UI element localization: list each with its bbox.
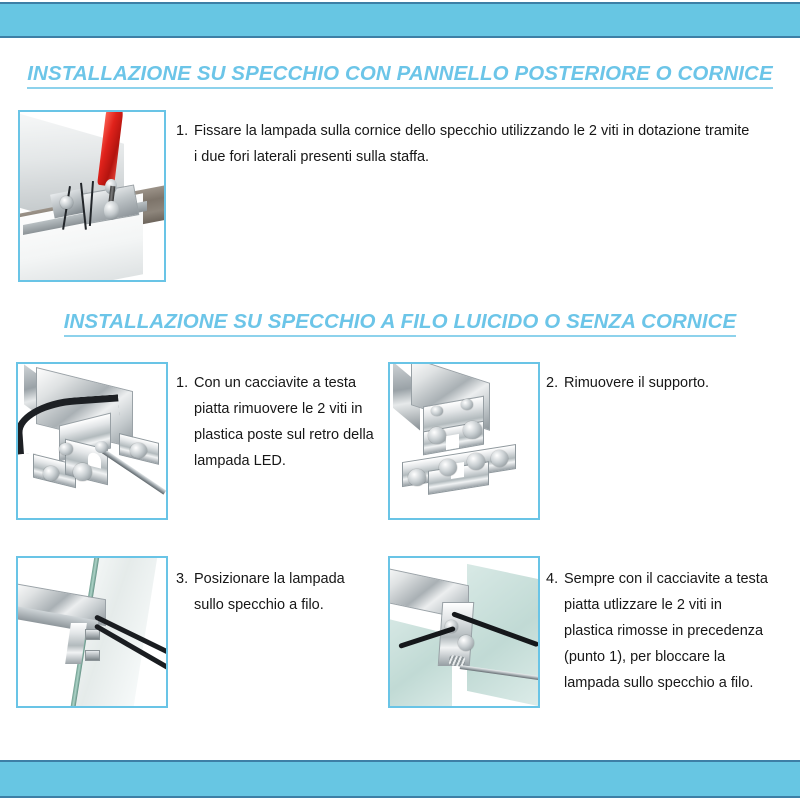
step-number: 4.: [546, 566, 558, 592]
instruction-sheet: INSTALLAZIONE SU SPECCHIO CON PANNELLO P…: [0, 0, 800, 800]
mirror-glass-right: [467, 564, 540, 708]
section-1-heading: INSTALLAZIONE SU SPECCHIO CON PANNELLO P…: [0, 62, 800, 86]
lug-notch: [446, 434, 459, 450]
section-1-heading-text: INSTALLAZIONE SU SPECCHIO CON PANNELLO P…: [27, 62, 772, 89]
step-text: Posizionare la lampada sullo specchio a …: [194, 566, 376, 618]
scene-screwdriver-on-frame: [20, 112, 164, 280]
photo-section2-step4: [388, 556, 540, 708]
step-number: 2.: [546, 370, 558, 396]
photo-section2-step3: [16, 556, 168, 708]
section-2-heading-text: INSTALLAZIONE SU SPECCHIO A FILO LUICIDO…: [64, 310, 737, 337]
step-text: Rimuovere il supporto.: [564, 370, 761, 396]
step-text: Sempre con il cacciavite a testa piatta …: [564, 566, 774, 696]
mounting-clip-upper: [85, 629, 100, 640]
plastic-screw: [73, 463, 92, 481]
photo-section1-step1: [18, 110, 166, 282]
scene-locking-lamp: [390, 558, 538, 706]
instruction-s2-step1: 1. Con un cacciavite a testa piatta rimu…: [176, 370, 376, 474]
photo-section2-step2: [388, 362, 540, 520]
bottom-decoration-bar: [0, 760, 800, 798]
scene-lamp-on-mirror: [18, 558, 166, 706]
top-decoration-bar: [0, 2, 800, 38]
step-number: 1.: [176, 370, 188, 396]
scene-bracket-removed: [390, 364, 538, 518]
section-2-heading: INSTALLAZIONE SU SPECCHIO A FILO LUICIDO…: [0, 310, 800, 334]
step-number: 1.: [176, 118, 188, 144]
screw-head-right: [130, 443, 146, 458]
instruction-s2-step3: 3. Posizionare la lampada sullo specchio…: [176, 566, 376, 618]
body-screw-right: [461, 399, 473, 410]
instruction-s2-step4: 4. Sempre con il cacciavite a testa piat…: [546, 566, 774, 696]
plate-screw-mid: [439, 459, 457, 476]
step-text: Con un cacciavite a testa piatta rimuove…: [194, 370, 376, 474]
lug-screw-right: [463, 421, 482, 439]
plate-screw-right1: [467, 453, 485, 470]
mounting-clip-lower: [85, 650, 100, 661]
plate-screw-left: [408, 469, 426, 486]
step-text: Fissare la lampada sulla cornice dello s…: [194, 118, 756, 170]
scene-lamp-screw-removal: [18, 364, 166, 518]
step-number: 3.: [176, 566, 188, 592]
instruction-s2-step2: 2. Rimuovere il supporto.: [546, 370, 761, 396]
screwdriver-tip: [104, 201, 118, 219]
photo-section2-step1: [16, 362, 168, 520]
instruction-s1-step1: 1. Fissare la lampada sulla cornice dell…: [176, 118, 756, 170]
